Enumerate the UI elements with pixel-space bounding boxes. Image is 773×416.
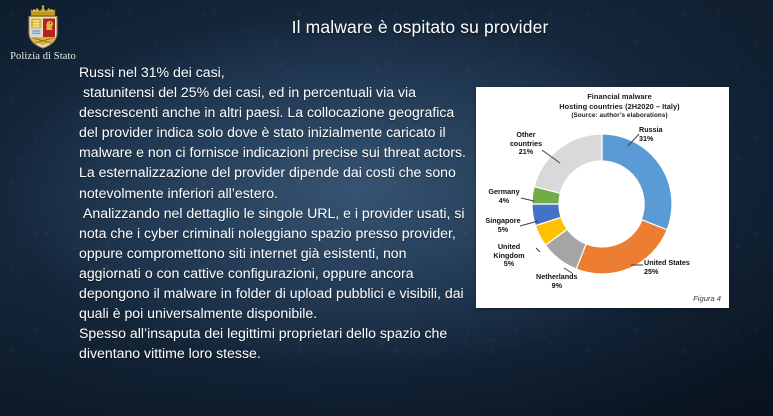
slice-label-netherlands-value: 9%: [536, 282, 578, 291]
slice-label-united-kingdom-value: 5%: [485, 260, 533, 269]
figure-caption: Figura 4: [693, 294, 721, 303]
leader-line-united-kingdom: [536, 248, 540, 252]
page-title: Il malware è ospitato su provider: [140, 17, 700, 38]
donut-slice-russia[interactable]: [602, 134, 672, 230]
body-text-block: Russi nel 31% dei casi, statunitensi del…: [79, 62, 471, 363]
slice-label-other-countries: Other countries 21%: [500, 131, 552, 157]
body-paragraph-5: Spesso all’insaputa dei legittimi propri…: [79, 323, 471, 363]
chart-panel: Financial malware Hosting countries (2H2…: [476, 87, 729, 308]
body-paragraph-3: La esternalizzazione del provider dipend…: [79, 162, 471, 202]
logo-caption: Polizia di Stato: [8, 51, 78, 62]
polizia-di-stato-crest-icon: [19, 4, 67, 50]
slide-canvas: Polizia di Stato Il malware è ospitato s…: [0, 0, 773, 416]
slice-label-germany-value: 4%: [480, 197, 528, 206]
slice-label-netherlands: Netherlands 9%: [536, 273, 578, 290]
body-paragraph-2: statunitensi del 25% dei casi, ed in per…: [79, 82, 471, 162]
slice-label-germany: Germany 4%: [480, 188, 528, 205]
polizia-logo-block: Polizia di Stato: [8, 4, 78, 62]
slice-label-singapore-value: 5%: [477, 226, 529, 235]
slice-label-united-kingdom: United Kingdom 5%: [485, 243, 533, 269]
body-paragraph-4: Analizzando nel dettaglio le singole URL…: [79, 203, 471, 324]
slice-label-singapore: Singapore 5%: [477, 217, 529, 234]
slice-label-united-states: United States 25%: [644, 259, 690, 276]
slice-label-united-states-value: 25%: [644, 268, 690, 277]
slice-label-other-countries-value: 21%: [500, 148, 552, 157]
slice-label-russia-value: 31%: [639, 135, 663, 144]
body-paragraph-1: Russi nel 31% dei casi,: [79, 62, 471, 82]
slice-label-russia: Russia 31%: [639, 126, 663, 143]
donut-chart: Russia 31% United States 25% Netherlands…: [476, 87, 729, 308]
